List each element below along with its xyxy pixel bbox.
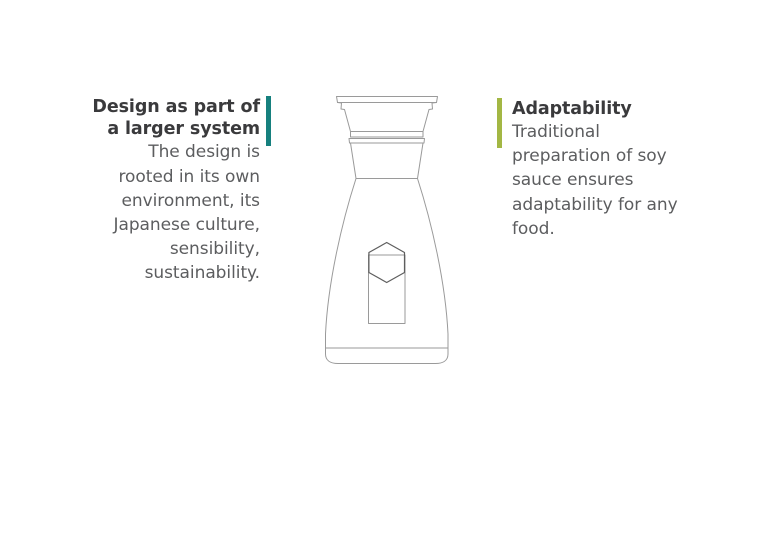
body-left-edge — [326, 179, 357, 349]
neck-left-edge — [351, 143, 357, 179]
text-panel-left-copy: Design as part of a larger system The de… — [88, 96, 260, 285]
body-right-edge — [418, 179, 449, 349]
text-panel-left: Design as part of a larger system The de… — [88, 96, 278, 285]
accent-bar-teal — [266, 96, 271, 146]
body-text-left: The design is rooted in its own environm… — [88, 140, 260, 285]
accent-bar-green — [497, 98, 502, 148]
heading-adaptability: Adaptability — [512, 98, 697, 120]
neck-ring-lower — [349, 139, 425, 144]
neck-ring-upper — [351, 132, 424, 138]
body-text-right: Traditional preparation of soy sauce ens… — [512, 120, 697, 241]
text-panel-right: Adaptability Traditional preparation of … — [497, 98, 697, 241]
slide-canvas: Design as part of a larger system The de… — [0, 0, 768, 541]
text-panel-right-copy: Adaptability Traditional preparation of … — [512, 98, 697, 241]
heading-design-as-part-of-a-larger-system: Design as part of a larger system — [88, 96, 260, 140]
base-foot — [326, 348, 449, 364]
label-hexagon-icon — [369, 243, 405, 283]
cap-body — [338, 103, 437, 132]
neck-right-edge — [418, 143, 424, 179]
label-rectangle — [369, 255, 406, 324]
cap-top-band — [337, 97, 438, 103]
soy-sauce-bottle-illustration — [300, 82, 480, 382]
